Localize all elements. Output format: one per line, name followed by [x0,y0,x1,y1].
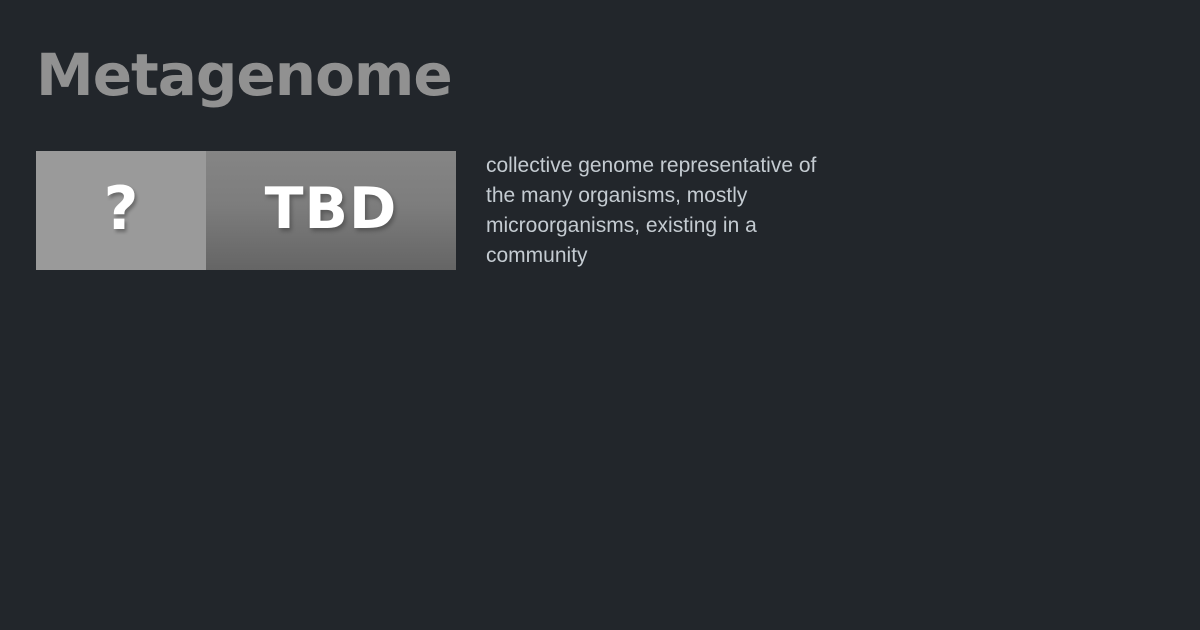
question-mark-icon: ? [104,179,139,239]
page-title: Metagenome [36,45,452,106]
placeholder-left-panel: ? [36,151,206,270]
content-row: ? TBD collective genome representative o… [36,151,821,271]
definition-card: Metagenome ? TBD collective genome repre… [0,0,1200,630]
placeholder-image: ? TBD [36,151,456,270]
placeholder-right-panel: TBD [206,151,456,270]
definition-description: collective genome representative of the … [486,151,821,271]
tbd-label: TBD [265,181,398,238]
